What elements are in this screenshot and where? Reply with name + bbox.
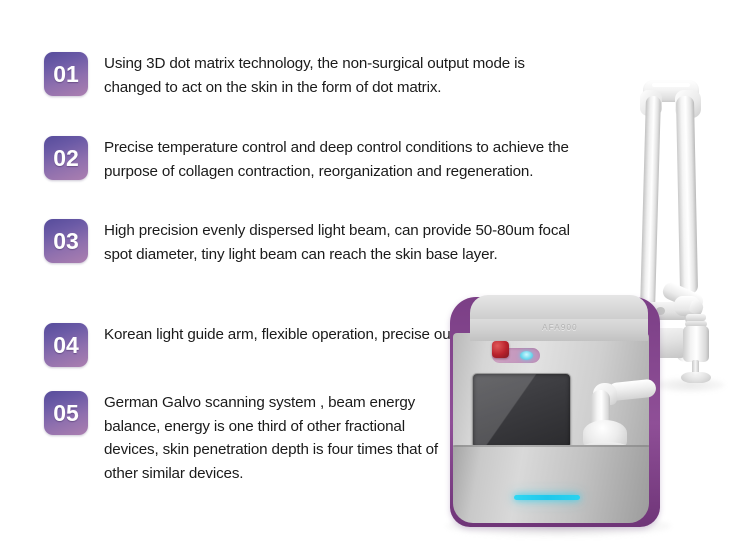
articulated-arm-tube-left: [640, 96, 661, 310]
feature-text: German Galvo scanning system , beam ener…: [104, 391, 444, 485]
articulated-arm-top-highlight: [652, 83, 690, 87]
feature-number-label: 01: [53, 63, 79, 86]
feature-number-badge: 03: [44, 219, 88, 263]
handpiece-ring-upper: [686, 314, 706, 321]
front-led-strip: [514, 495, 580, 500]
articulated-arm-tube-right: [676, 96, 698, 294]
feature-number-label: 02: [53, 147, 79, 170]
feature-number-badge: 01: [44, 52, 88, 96]
feature-number-label: 03: [53, 230, 79, 253]
status-indicator-light: [520, 351, 533, 360]
laser-handpiece-body[interactable]: [683, 326, 709, 362]
console-panel-seam: [453, 445, 649, 447]
list-item: 04 Korean light guide arm, flexible oper…: [44, 323, 504, 367]
device-product-image: AFA900: [440, 60, 750, 555]
feature-number-badge: 02: [44, 136, 88, 180]
feature-infographic-page: 01 Using 3D dot matrix technology, the n…: [0, 0, 750, 555]
feature-number-label: 05: [53, 402, 79, 425]
laser-console: AFA900: [450, 295, 662, 527]
feature-number-badge: 05: [44, 391, 88, 435]
emergency-stop-knob[interactable]: [492, 341, 509, 358]
console-lower-housing: [453, 445, 649, 523]
handpiece-tip-cone: [681, 372, 711, 383]
list-item: 05 German Galvo scanning system , beam e…: [44, 391, 444, 485]
feature-number-badge: 04: [44, 323, 88, 367]
touchscreen-display[interactable]: [472, 373, 571, 449]
feature-number-label: 04: [53, 334, 79, 357]
device-brand-logo: AFA900: [530, 323, 590, 332]
